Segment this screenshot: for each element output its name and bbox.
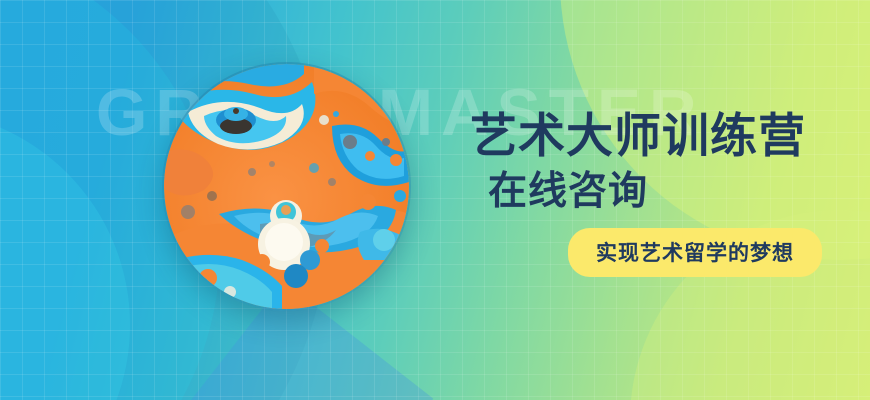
cta-button[interactable]: 实现艺术留学的梦想: [568, 228, 822, 277]
banner-headline: 艺术大师训练营: [470, 110, 830, 163]
artwork-circle: [162, 62, 411, 311]
promo-banner: GRANDMASTER: [0, 0, 870, 400]
banner-subheadline: 在线咨询: [470, 171, 830, 214]
banner-text-block: 艺术大师训练营 在线咨询 实现艺术留学的梦想: [470, 110, 830, 277]
fluid-art-illustration: [164, 64, 409, 309]
background-arc-small: [0, 110, 130, 400]
